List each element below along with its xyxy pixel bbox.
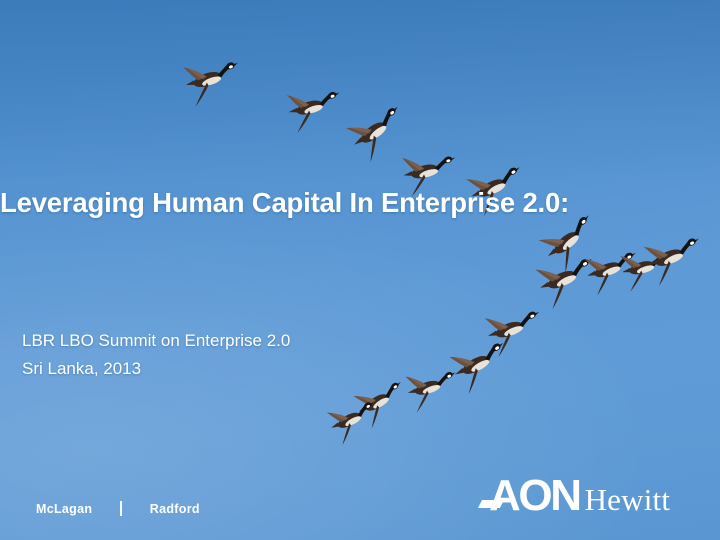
presentation-slide: Leveraging Human Capital In Enterprise 2…: [0, 0, 720, 540]
brand-mclagan: McLagan: [36, 502, 92, 516]
aon-wordmark: AON: [489, 474, 580, 518]
subtitle-line-2: Sri Lanka, 2013: [22, 355, 290, 383]
brand-separator: [120, 501, 122, 516]
goose-icon: [278, 84, 346, 138]
goose-icon: [634, 229, 710, 292]
goose-icon: [174, 54, 246, 112]
brand-radford: Radford: [150, 502, 200, 516]
hewitt-wordmark: Hewitt: [585, 484, 671, 515]
footer-brands: McLagan Radford: [36, 501, 200, 516]
page-title: Leveraging Human Capital In Enterprise 2…: [0, 186, 720, 220]
aon-hewitt-logo: AON Hewitt: [489, 474, 670, 522]
subtitle-line-1: LBR LBO Summit on Enterprise 2.0: [22, 327, 290, 355]
subtitle-block: LBR LBO Summit on Enterprise 2.0 Sri Lan…: [22, 327, 290, 383]
